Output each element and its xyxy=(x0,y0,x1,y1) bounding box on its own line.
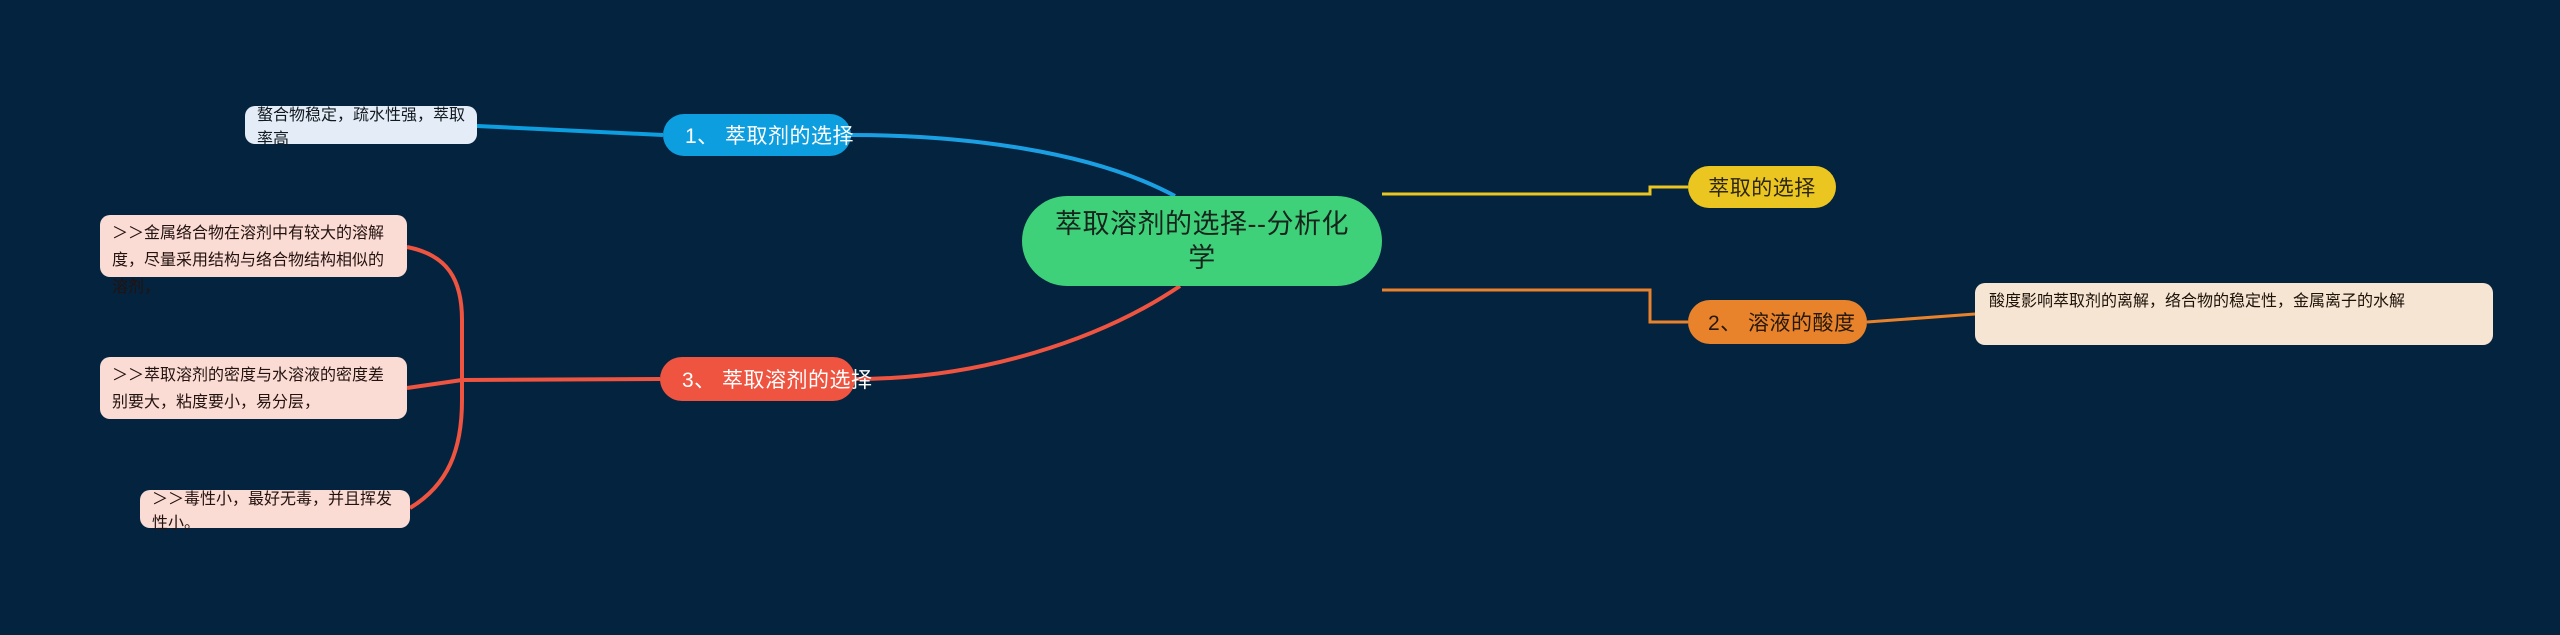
branch-node-solution-acidity[interactable]: 2、 溶液的酸度 xyxy=(1688,300,1867,344)
leaf-node-acidity-effects[interactable]: 酸度影响萃取剂的离解，络合物的稳定性，金属离子的水解 xyxy=(1975,283,2493,345)
branch-node-label: 2、 溶液的酸度 xyxy=(1708,307,1856,337)
connector-density-stub xyxy=(407,380,462,388)
leaf-node-complex-solubility[interactable]: ＞＞金属络合物在溶剂中有较大的溶解度，尽量采用结构与络合物结构相似的溶剂， xyxy=(100,215,407,277)
leaf-node-solvent-density[interactable]: ＞＞萃取溶剂的密度与水溶液的密度差别要大，粘度要小，易分层， xyxy=(100,357,407,419)
branch-node-label: 3、 萃取溶剂的选择 xyxy=(682,364,873,394)
leaf-node-label: ＞＞金属络合物在溶剂中有较大的溶解度，尽量采用结构与络合物结构相似的溶剂， xyxy=(112,220,395,301)
connector-branch3-to-central xyxy=(855,286,1180,379)
mindmap-canvas: 萃取溶剂的选择--分析化学 1、 萃取剂的选择 3、 萃取溶剂的选择 萃取的选择… xyxy=(0,0,2560,635)
leaf-node-label: 螯合物稳定，疏水性强，萃取率高 xyxy=(257,101,465,149)
branch-node-solvent-selection[interactable]: 3、 萃取溶剂的选择 xyxy=(660,357,855,401)
connector-branch2-to-acidity xyxy=(1867,314,1975,322)
leaf-node-label: ＞＞毒性小，最好无毒，并且挥发性小。 xyxy=(152,485,398,533)
connector-bracket-to-branch3 xyxy=(462,379,660,380)
connector-central-to-branch2 xyxy=(1382,290,1688,322)
branch-node-label: 1、 萃取剂的选择 xyxy=(685,120,854,150)
branch-node-extraction-choice[interactable]: 萃取的选择 xyxy=(1688,166,1836,208)
connector-chelate-to-branch1 xyxy=(477,126,663,135)
central-topic-node[interactable]: 萃取溶剂的选择--分析化学 xyxy=(1022,196,1382,286)
connector-central-to-topright xyxy=(1382,187,1688,194)
leaf-node-label: 酸度影响萃取剂的离解，络合物的稳定性，金属离子的水解 xyxy=(1989,288,2405,315)
branch-node-extractant-selection[interactable]: 1、 萃取剂的选择 xyxy=(663,114,851,156)
connector-leftleaf-bracket xyxy=(407,247,462,508)
central-topic-label: 萃取溶剂的选择--分析化学 xyxy=(1044,207,1360,275)
branch-node-label: 萃取的选择 xyxy=(1708,172,1816,202)
connector-branch1-to-central xyxy=(851,135,1175,196)
leaf-node-chelate-stability[interactable]: 螯合物稳定，疏水性强，萃取率高 xyxy=(245,106,477,144)
leaf-node-low-toxicity[interactable]: ＞＞毒性小，最好无毒，并且挥发性小。 xyxy=(140,490,410,528)
leaf-node-label: ＞＞萃取溶剂的密度与水溶液的密度差别要大，粘度要小，易分层， xyxy=(112,362,395,416)
